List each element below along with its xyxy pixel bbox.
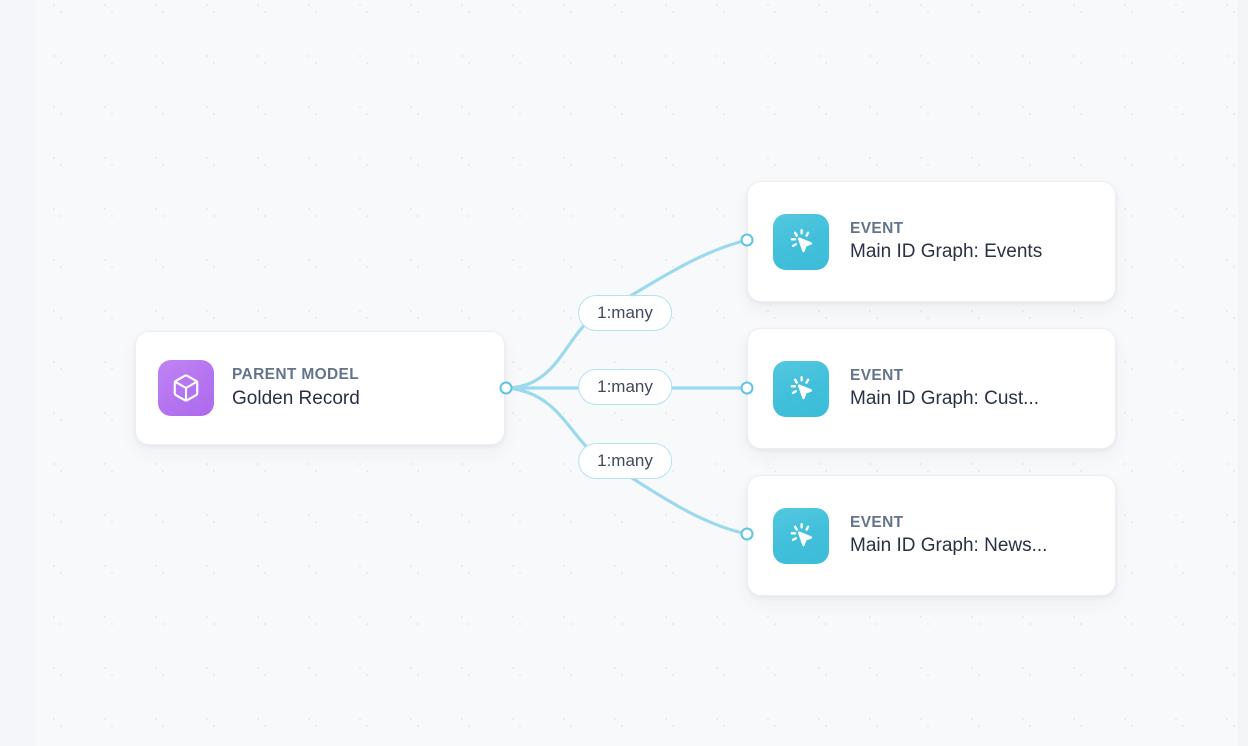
click-cursor-icon xyxy=(773,214,829,270)
node-title: Main ID Graph: Cust... xyxy=(850,386,1039,412)
target-handle-event-2[interactable] xyxy=(741,528,754,541)
cube-icon xyxy=(158,360,214,416)
relationship-label-0[interactable]: 1:many xyxy=(578,295,672,331)
node-parent-model[interactable]: PARENT MODEL Golden Record xyxy=(135,331,505,445)
node-title: Main ID Graph: News... xyxy=(850,533,1047,559)
node-title: Main ID Graph: Events xyxy=(850,239,1042,265)
node-parent-model-text: PARENT MODEL Golden Record xyxy=(232,364,360,412)
relationship-label-2[interactable]: 1:many xyxy=(578,443,672,479)
node-event-0[interactable]: EVENT Main ID Graph: Events xyxy=(747,181,1116,302)
click-cursor-icon xyxy=(773,508,829,564)
click-cursor-icon xyxy=(773,361,829,417)
node-event-2[interactable]: EVENT Main ID Graph: News... xyxy=(747,475,1116,596)
node-kicker: EVENT xyxy=(850,365,1039,386)
node-kicker: EVENT xyxy=(850,512,1047,533)
relationship-label-1[interactable]: 1:many xyxy=(578,369,672,405)
node-event-1-text: EVENT Main ID Graph: Cust... xyxy=(850,365,1039,413)
node-kicker: EVENT xyxy=(850,218,1042,239)
node-event-0-text: EVENT Main ID Graph: Events xyxy=(850,218,1042,266)
node-title: Golden Record xyxy=(232,386,360,412)
node-kicker: PARENT MODEL xyxy=(232,364,360,385)
target-handle-event-0[interactable] xyxy=(741,234,754,247)
node-event-2-text: EVENT Main ID Graph: News... xyxy=(850,512,1047,560)
target-handle-event-1[interactable] xyxy=(741,382,754,395)
diagram-canvas[interactable]: 1:many 1:many 1:many PARENT MODEL Golden… xyxy=(0,0,1248,746)
source-handle-parent[interactable] xyxy=(500,382,513,395)
node-event-1[interactable]: EVENT Main ID Graph: Cust... xyxy=(747,328,1116,449)
